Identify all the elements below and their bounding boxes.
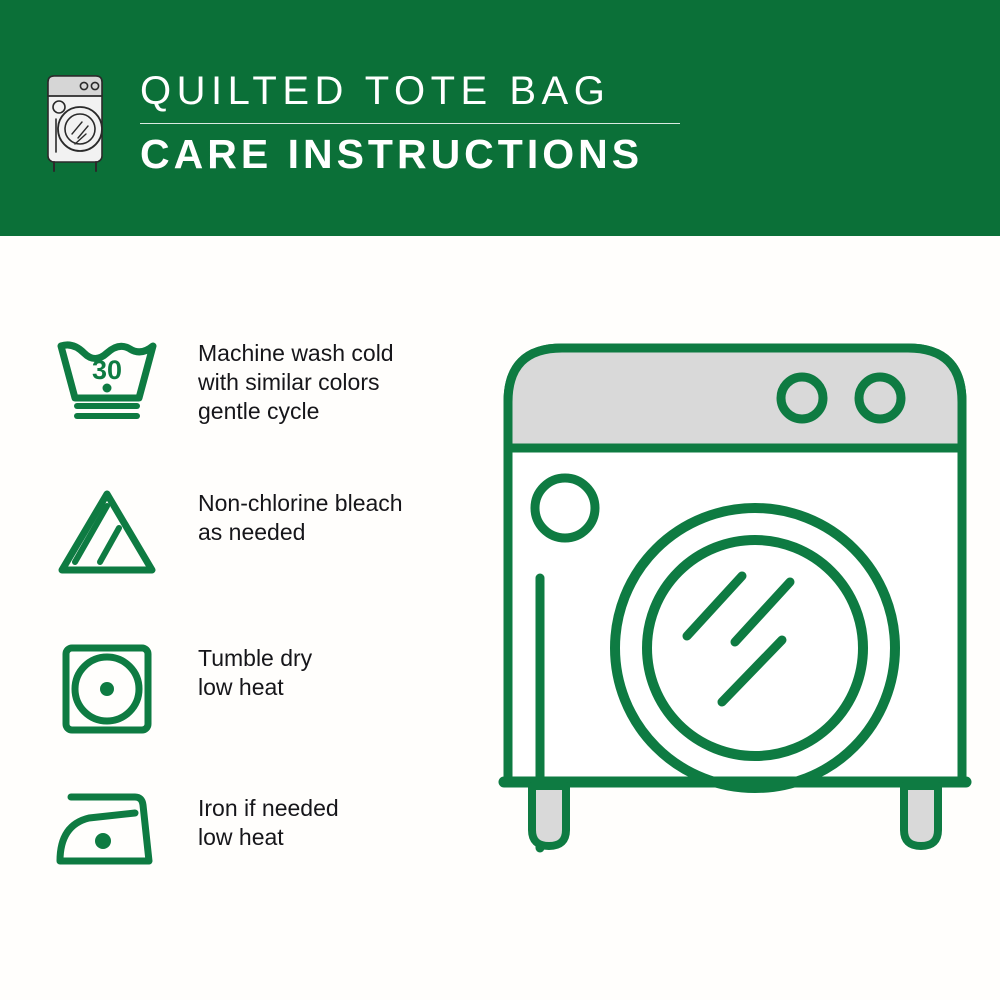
care-instruction-list: 30 Machine wash cold with similar colors… bbox=[0, 236, 470, 1000]
washing-machine-illustration bbox=[490, 330, 980, 930]
page-title-primary: QUILTED TOTE BAG bbox=[140, 68, 760, 114]
wash-temperature-label: 30 bbox=[92, 355, 122, 385]
care-item-text: Non-chlorine bleach as needed bbox=[198, 486, 403, 547]
care-item-bleach: Non-chlorine bleach as needed bbox=[52, 486, 452, 578]
care-item-machine-wash: 30 Machine wash cold with similar colors… bbox=[52, 336, 452, 426]
washer-control-panel bbox=[508, 348, 962, 448]
care-item-text: Iron if needed low heat bbox=[198, 791, 339, 852]
care-item-text: Machine wash cold with similar colors ge… bbox=[198, 336, 394, 426]
iron-low-heat-icon bbox=[52, 791, 162, 871]
care-item-iron: Iron if needed low heat bbox=[52, 791, 452, 871]
tumble-dry-low-heat-icon bbox=[52, 641, 162, 737]
wash-tub-30-gentle-icon: 30 bbox=[52, 336, 162, 422]
non-chlorine-bleach-triangle-icon bbox=[52, 486, 162, 578]
care-item-text: Tumble dry low heat bbox=[198, 641, 312, 702]
care-item-tumble-dry: Tumble dry low heat bbox=[52, 641, 452, 737]
washing-machine-icon bbox=[44, 72, 110, 176]
header-band: QUILTED TOTE BAG CARE INSTRUCTIONS bbox=[0, 0, 1000, 236]
title-divider bbox=[140, 123, 680, 124]
header-title-block: QUILTED TOTE BAG CARE INSTRUCTIONS bbox=[140, 68, 760, 178]
page-title-secondary: CARE INSTRUCTIONS bbox=[140, 130, 760, 178]
washer-leg-left bbox=[532, 786, 566, 846]
washer-leg-right bbox=[904, 786, 938, 846]
